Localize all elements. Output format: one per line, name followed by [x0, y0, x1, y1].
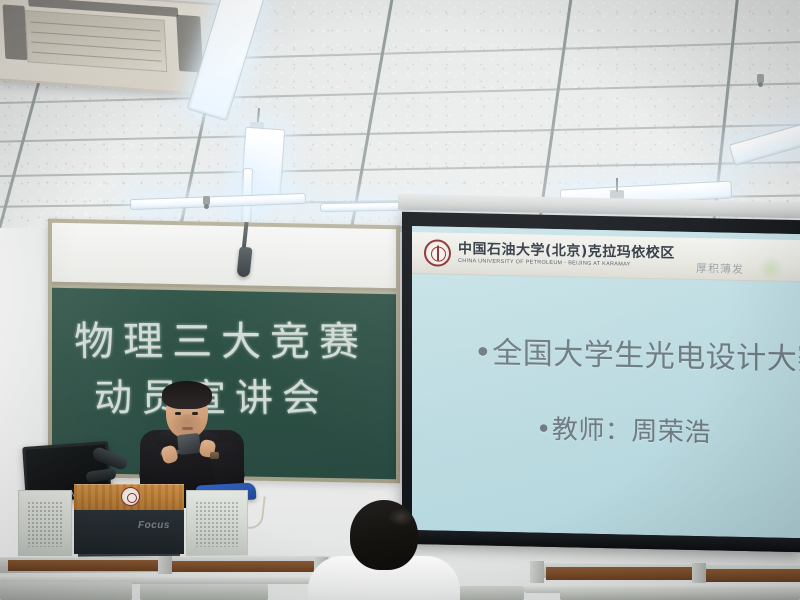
speaker-grill — [195, 501, 239, 547]
slide-body: •全国大学生光电设计大赛 •教师：周荣浩 — [412, 296, 800, 538]
slide-bullet-1: •全国大学生光电设计大赛 — [474, 327, 800, 378]
slide-bullet-2: •教师：周荣浩 — [536, 409, 711, 450]
chair-back — [0, 582, 132, 600]
lecture-hall-photo: 物理三大竞赛 动员宣讲会 中国石油大学(北京)克拉玛依校区 CHINA UNIV… — [0, 0, 800, 600]
presenter-eye-right — [192, 412, 198, 415]
slide-motto: 厚积薄发 — [696, 260, 744, 277]
podium-brand-label: Focus — [138, 520, 170, 531]
ac-vent — [3, 4, 28, 60]
university-seal-icon — [424, 239, 451, 267]
university-name-block: 中国石油大学(北京)克拉玛依校区 CHINA UNIVERSITY OF PET… — [458, 242, 675, 269]
student-head — [350, 500, 418, 570]
seated-student — [330, 500, 440, 600]
projection-screen-surface: 中国石油大学(北京)克拉玛依校区 CHINA UNIVERSITY OF PET… — [412, 226, 800, 538]
sprinkler-head — [203, 196, 210, 205]
desk-divider-post — [158, 556, 172, 574]
desk-divider-post — [530, 561, 544, 583]
light-suspension-rod — [616, 178, 618, 192]
presentation-slide: 中国石油大学(北京)克拉玛依校区 CHINA UNIVERSITY OF PET… — [412, 226, 800, 538]
desk-wood-panel — [546, 567, 692, 580]
desk-wood-panel — [8, 560, 158, 571]
whiteboard-strip — [52, 223, 396, 292]
student-hair-highlight — [388, 508, 414, 526]
chair-back — [452, 586, 524, 600]
podium-speaker-right — [186, 490, 248, 556]
presenter-mouth — [182, 427, 193, 430]
projection-screen: 中国石油大学(北京)克拉玛依校区 CHINA UNIVERSITY OF PET… — [402, 212, 800, 552]
chair-back — [140, 584, 268, 600]
podium-university-emblem-icon — [121, 487, 140, 506]
desk-wood-panel — [706, 569, 800, 582]
speaker-grill — [27, 501, 63, 547]
chalk-text-line-1: 物理三大竞赛 — [74, 309, 369, 368]
ac-filter-panel — [25, 10, 168, 72]
presenter-hair — [162, 381, 212, 409]
podium-speaker-left — [18, 490, 72, 556]
ceiling-ac-unit — [0, 0, 226, 96]
desk-divider-post — [692, 563, 706, 583]
presenter-face — [170, 414, 204, 436]
wristwatch — [210, 452, 219, 459]
presenter-eye-left — [175, 412, 181, 415]
held-device — [177, 433, 201, 455]
motto-decoration-icon — [758, 255, 784, 282]
podium-front-panel — [74, 510, 184, 554]
slide-header: 中国石油大学(北京)克拉玛依校区 CHINA UNIVERSITY OF PET… — [412, 232, 800, 282]
desk-wood-panel — [172, 561, 314, 572]
chair-back — [560, 590, 800, 600]
sprinkler-head — [757, 74, 764, 83]
